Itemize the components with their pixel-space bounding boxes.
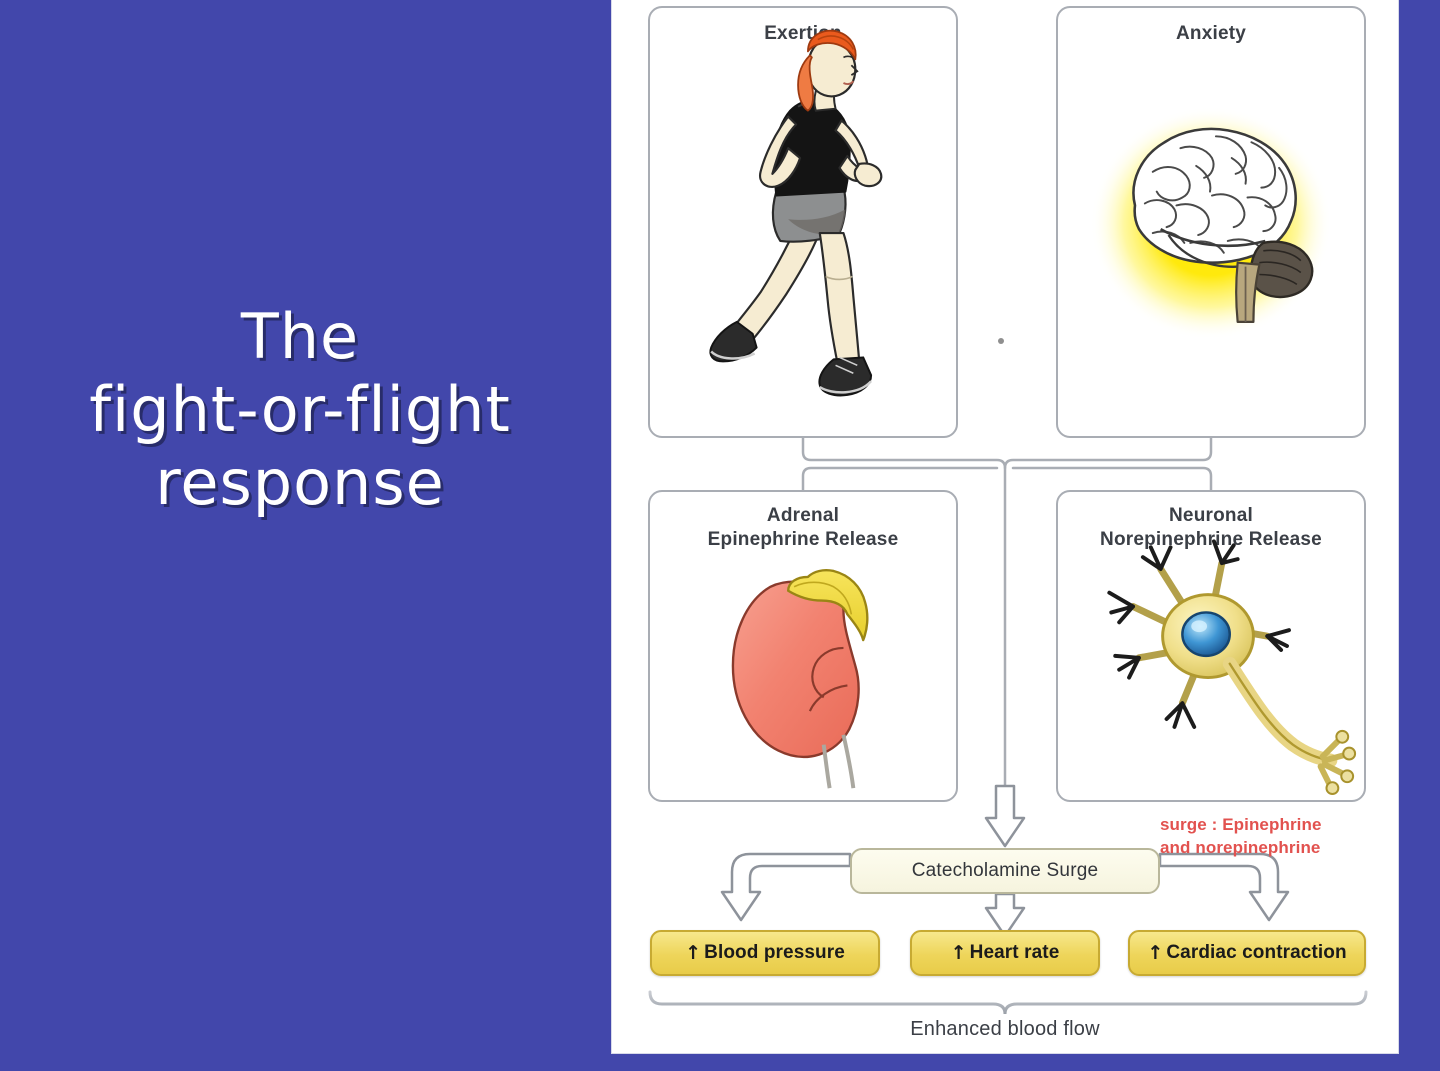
surge-annotation-line-2: and norepinephrine [1160,837,1400,860]
brain-with-yellow-glow-illustration [1058,8,1364,434]
card-adrenal: Adrenal Epinephrine Release [648,490,958,802]
catecholamine-surge-box: Catecholamine Surge [850,848,1160,894]
outcome-heart-rate: ↑ Heart rate [910,930,1100,976]
page-title: The fight-or-flight response [0,300,600,519]
running-woman-illustration [650,8,956,434]
page-title-line-2: fight-or-flight [0,373,600,446]
surge-annotation: surge : Epinephrine and norepinephrine [1160,814,1400,860]
outcome-heart-rate-label: Heart rate [970,942,1060,964]
adrenal-gland-kidney-illustration [650,492,956,800]
image-speck [998,338,1004,344]
up-arrow-icon: ↑ [951,942,967,964]
up-arrow-icon: ↑ [685,942,701,964]
page-title-line-3: response [0,446,600,519]
page-title-line-1: The [0,300,600,373]
outcome-blood-pressure-label: Blood pressure [704,942,845,964]
figure-panel: Exertion [612,0,1398,1053]
card-anxiety: Anxiety [1056,6,1366,438]
up-arrow-icon: ↑ [1147,942,1163,964]
card-neuron: Neuronal Norepinephrine Release [1056,490,1366,802]
card-exertion: Exertion [648,6,958,438]
surge-annotation-line-1: surge : Epinephrine [1160,814,1400,837]
outcome-blood-pressure: ↑ Blood pressure [650,930,880,976]
catecholamine-surge-label: Catecholamine Surge [912,860,1099,882]
outcome-cardiac-contraction-label: Cardiac contraction [1166,942,1346,964]
neuron-illustration [1058,492,1364,800]
outcome-cardiac-contraction: ↑ Cardiac contraction [1128,930,1366,976]
enhanced-blood-flow-caption: Enhanced blood flow [612,1018,1398,1041]
